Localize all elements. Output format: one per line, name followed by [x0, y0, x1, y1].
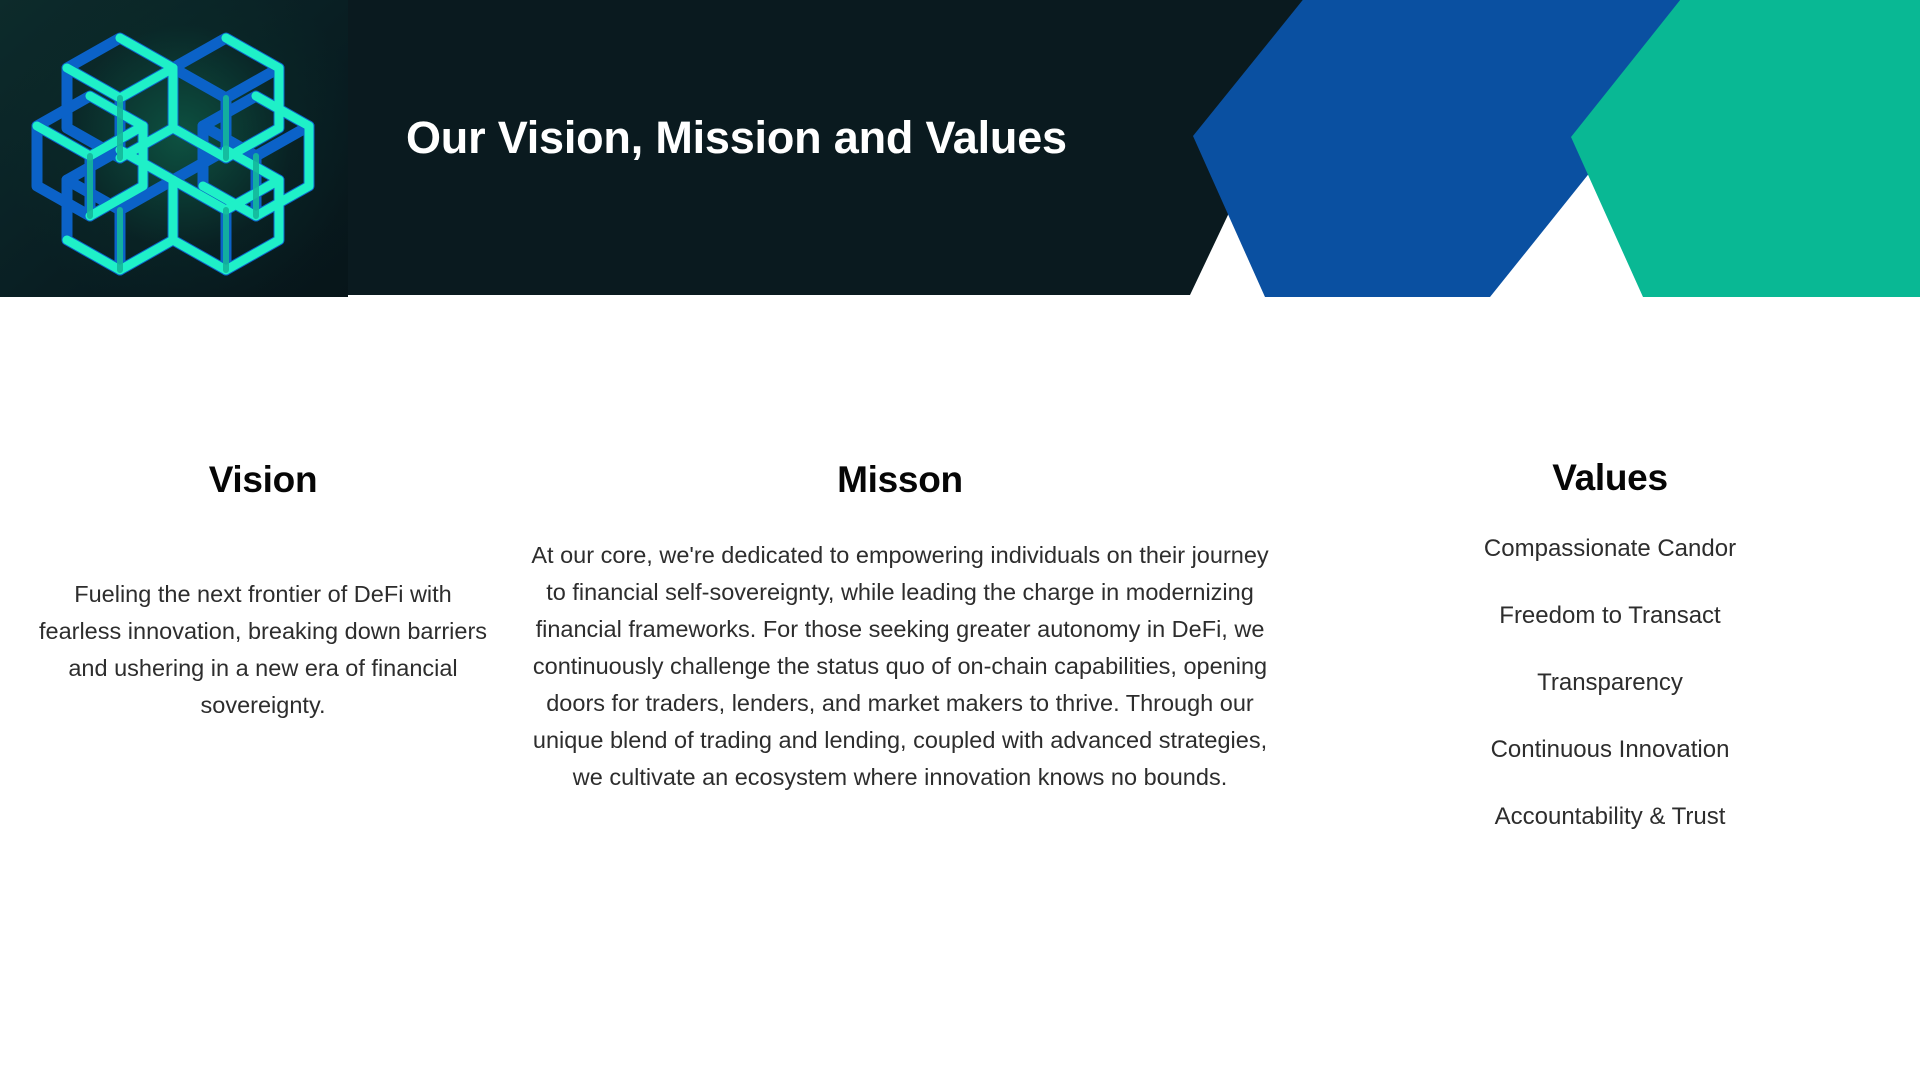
list-item: Accountability & Trust	[1400, 797, 1820, 837]
page-title: Our Vision, Mission and Values	[406, 113, 1067, 163]
vision-heading: Vision	[32, 460, 494, 501]
list-item: Transparency	[1400, 663, 1820, 703]
content-columns: Vision Fueling the next frontier of DeFi…	[0, 297, 1920, 1080]
list-item: Freedom to Transact	[1400, 596, 1820, 636]
isometric-cube-cluster-logo-icon	[24, 8, 324, 295]
mission-body: At our core, we're dedicated to empoweri…	[520, 537, 1280, 796]
column-values: Values Compassionate Candor Freedom to T…	[1400, 297, 1820, 837]
column-mission: Misson At our core, we're dedicated to e…	[520, 297, 1280, 796]
logo-tile	[0, 0, 348, 297]
slide-header: Our Vision, Mission and Values	[0, 0, 1920, 297]
values-heading: Values	[1400, 458, 1820, 499]
vision-body: Fueling the next frontier of DeFi with f…	[32, 576, 494, 724]
values-list: Compassionate Candor Freedom to Transact…	[1400, 529, 1820, 837]
column-vision: Vision Fueling the next frontier of DeFi…	[32, 297, 494, 724]
list-item: Compassionate Candor	[1400, 529, 1820, 569]
mission-heading: Misson	[520, 460, 1280, 501]
slide-canvas: Our Vision, Mission and Values Vision Fu…	[0, 0, 1920, 1080]
list-item: Continuous Innovation	[1400, 730, 1820, 770]
